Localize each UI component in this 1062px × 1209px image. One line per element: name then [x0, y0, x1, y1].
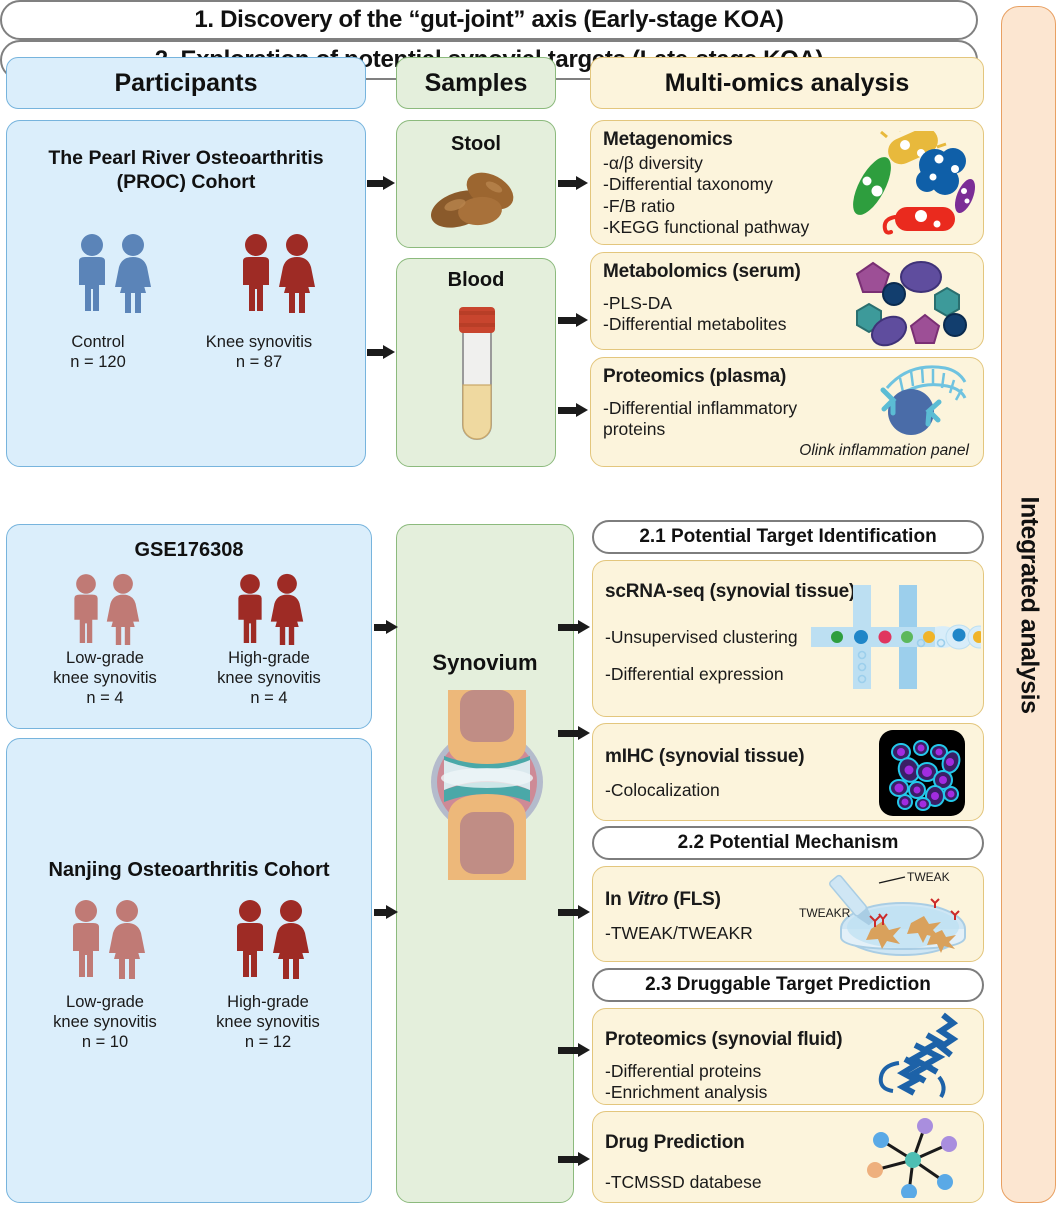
section1-title: 1. Discovery of the “gut-joint” axis (Ea…: [194, 6, 783, 34]
gse-high-label1: High-grade: [209, 649, 329, 669]
stool-icon: [422, 165, 532, 235]
arrow-synovium-to-proteomics: [558, 1043, 590, 1057]
control-label: Control: [43, 333, 153, 353]
arrow-stool-to-metagenomics: [558, 176, 588, 190]
tweak-label: TWEAK: [907, 870, 950, 884]
omics-box-metabolomics: Metabolomics (serum) -PLS-DA -Differenti…: [590, 252, 984, 350]
protein-ribbon-icon: [869, 1011, 965, 1103]
person-female-icon: [277, 233, 317, 313]
cohort-panel-nanjing: Nanjing Osteoarthritis Cohort Low-grade …: [6, 738, 372, 1203]
gse-high-label2: knee synovitis: [209, 669, 329, 689]
antibody-icon: [853, 362, 973, 440]
subsection-band-2-1: 2.1 Potential Target Identification: [592, 520, 984, 554]
subsection-band-2-2: 2.2 Potential Mechanism: [592, 826, 984, 860]
omics-box-scrna-seq: scRNA-seq (synovial tissue) -Unsupervise…: [592, 560, 984, 717]
nanjing-low-label1: Low-grade: [42, 993, 168, 1013]
gse-low-label1: Low-grade: [45, 649, 165, 669]
arrow-synovium-to-mihc: [558, 726, 590, 740]
synovitis-label: Knee synovitis: [195, 333, 323, 353]
person-group-nanjing-low-caption: Low-grade knee synovitis n = 10: [42, 993, 168, 1052]
omics-box-drug-prediction: Drug Prediction -TCMSSD databese: [592, 1111, 984, 1203]
figure-canvas: 1. Discovery of the “gut-joint” axis (Ea…: [0, 0, 1062, 1209]
cohort-panel-proc: The Pearl River Osteoarthritis (PROC) Co…: [6, 120, 366, 467]
person-female-icon: [113, 233, 153, 313]
gse-low-label2: knee synovitis: [45, 669, 165, 689]
network-icon: [863, 1118, 963, 1198]
arrow-nanjing-to-synovium: [374, 905, 398, 919]
omics-box-in-vitro: In Vitro (FLS) -TWEAK/TWEAKR: [592, 866, 984, 962]
person-group-nanjing-low: [67, 899, 147, 979]
omics-box-metagenomics: Metagenomics -α/β diversity -Differentia…: [590, 120, 984, 245]
column-head-participants: Participants: [6, 57, 366, 109]
nanjing-high-n: n = 12: [205, 1033, 331, 1053]
knee-joint-icon: [412, 690, 562, 880]
person-group-control-caption: Control n = 120: [43, 333, 153, 373]
person-group-gse-low-caption: Low-grade knee synovitis n = 4: [45, 649, 165, 708]
person-group-gse-high-caption: High-grade knee synovitis n = 4: [209, 649, 329, 708]
olink-note: Olink inflammation panel: [799, 442, 969, 460]
person-group-nanjing-high: [231, 899, 311, 979]
arrow-synovium-to-scrna: [558, 620, 590, 634]
person-female-icon: [269, 573, 305, 645]
cohort-proc-title: The Pearl River Osteoarthritis (PROC) Co…: [7, 146, 365, 195]
person-group-nanjing-high-caption: High-grade knee synovitis n = 12: [205, 993, 331, 1052]
subsection-band-2-3: 2.3 Druggable Target Prediction: [592, 968, 984, 1002]
sample-box-synovium: Synovium: [396, 524, 574, 1203]
cohort-proc-title-line1: The Pearl River Osteoarthritis: [7, 146, 365, 170]
person-female-icon: [105, 573, 141, 645]
omics-box-proteomics-plasma: Proteomics (plasma) -Differential inflam…: [590, 357, 984, 467]
sample-box-stool: Stool: [396, 120, 556, 248]
blood-tube-icon: [447, 303, 507, 453]
in-vitro-italic: Vitro: [627, 889, 669, 910]
person-male-icon: [231, 899, 269, 979]
column-head-samples-label: Samples: [425, 69, 528, 98]
petri-dish-icon: TWEAK TWEAKR: [799, 869, 979, 961]
nanjing-high-label1: High-grade: [205, 993, 331, 1013]
column-head-samples: Samples: [396, 57, 556, 109]
column-head-participants-label: Participants: [114, 69, 257, 98]
column-head-multiomics: Multi-omics analysis: [590, 57, 984, 109]
person-female-icon: [107, 899, 147, 979]
cohort-panel-gse176308: GSE176308 Low-grade knee synovitis n = 4: [6, 524, 372, 729]
person-male-icon: [69, 573, 103, 645]
arrow-blood-to-proteomics: [558, 403, 588, 417]
section1-header: 1. Discovery of the “gut-joint” axis (Ea…: [0, 0, 978, 40]
gse-low-n: n = 4: [45, 689, 165, 709]
microfluidics-icon: [811, 585, 981, 695]
nanjing-low-label2: knee synovitis: [42, 1013, 168, 1033]
cohort-gse-title: GSE176308: [7, 539, 371, 562]
arrow-synovium-to-invitro: [558, 905, 590, 919]
sample-synovium-label: Synovium: [397, 650, 573, 676]
metabolites-icon: [849, 259, 969, 347]
gse-high-n: n = 4: [209, 689, 329, 709]
in-vitro-prefix: In: [605, 889, 627, 910]
mihc-image-icon: [879, 730, 965, 816]
person-male-icon: [237, 233, 275, 313]
sample-stool-label: Stool: [397, 133, 555, 156]
cohort-nanjing-title: Nanjing Osteoarthritis Cohort: [7, 859, 371, 882]
arrow-blood-to-metabolomics: [558, 313, 588, 327]
person-group-synovitis-caption: Knee synovitis n = 87: [195, 333, 323, 373]
person-male-icon: [73, 233, 111, 313]
person-male-icon: [67, 899, 105, 979]
omics-box-mihc: mIHC (synovial tissue) -Colocalization: [592, 723, 984, 821]
nanjing-high-label2: knee synovitis: [205, 1013, 331, 1033]
integrated-analysis-rail: Integrated analysis: [1001, 6, 1056, 1203]
subsection-2-1-label: 2.1 Potential Target Identification: [639, 526, 936, 548]
integrated-analysis-label: Integrated analysis: [1014, 496, 1043, 713]
omics-box-proteomics-synovial: Proteomics (synovial fluid) -Differentia…: [592, 1008, 984, 1105]
sample-box-blood: Blood: [396, 258, 556, 467]
person-group-gse-high: [233, 573, 305, 645]
bacteria-icon: [847, 131, 977, 236]
in-vitro-suffix: (FLS): [668, 889, 721, 910]
subsection-2-3-label: 2.3 Druggable Target Prediction: [645, 974, 931, 996]
arrow-participants-to-blood: [367, 345, 395, 359]
person-group-synovitis: [237, 233, 317, 313]
person-group-control: [73, 233, 153, 313]
column-head-multiomics-label: Multi-omics analysis: [665, 69, 910, 98]
arrow-participants-to-stool: [367, 176, 395, 190]
synovitis-n: n = 87: [195, 353, 323, 373]
subsection-2-2-label: 2.2 Potential Mechanism: [678, 832, 899, 854]
arrow-synovium-to-drug: [558, 1152, 590, 1166]
nanjing-low-n: n = 10: [42, 1033, 168, 1053]
control-n: n = 120: [43, 353, 153, 373]
cohort-proc-title-line2: (PROC) Cohort: [7, 170, 365, 194]
person-group-gse-low: [69, 573, 141, 645]
arrow-gse-to-synovium: [374, 620, 398, 634]
person-female-icon: [271, 899, 311, 979]
tweakr-label: TWEAKR: [799, 906, 851, 920]
sample-blood-label: Blood: [397, 269, 555, 292]
person-male-icon: [233, 573, 267, 645]
